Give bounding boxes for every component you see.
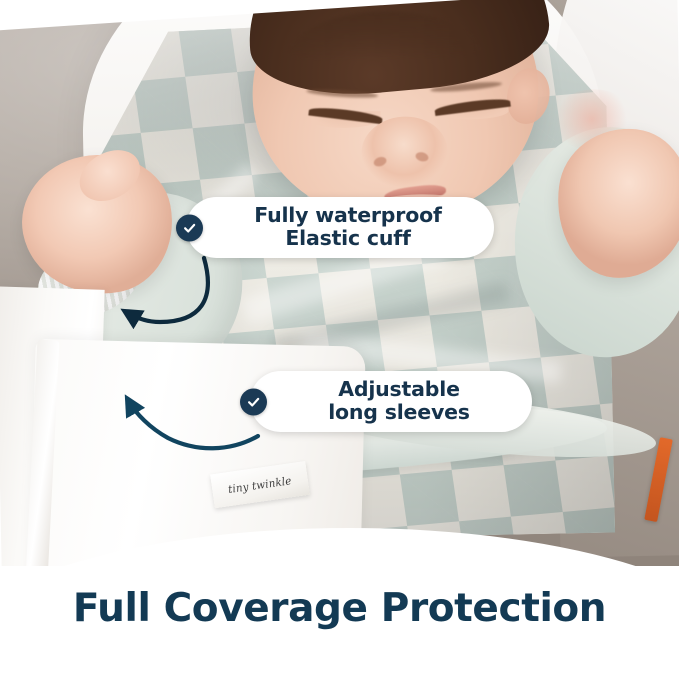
callout-text: Fully waterproof Elastic cuff (226, 204, 470, 250)
brand-label-text: tiny twinkle (227, 474, 292, 496)
product-photo: tiny twinkle (0, 0, 679, 566)
page-headline: Full Coverage Protection (0, 586, 679, 631)
callout-text: Adjustable long sleeves (290, 378, 508, 424)
check-circle-icon (176, 214, 203, 241)
product-infographic: tiny twinkle Fully water (0, 0, 679, 679)
callout-waterproof-cuff[interactable]: Fully waterproof Elastic cuff (186, 197, 494, 258)
photo-canvas: tiny twinkle (0, 0, 679, 566)
callout-long-sleeves[interactable]: Adjustable long sleeves (250, 371, 532, 432)
check-circle-icon (240, 388, 267, 415)
